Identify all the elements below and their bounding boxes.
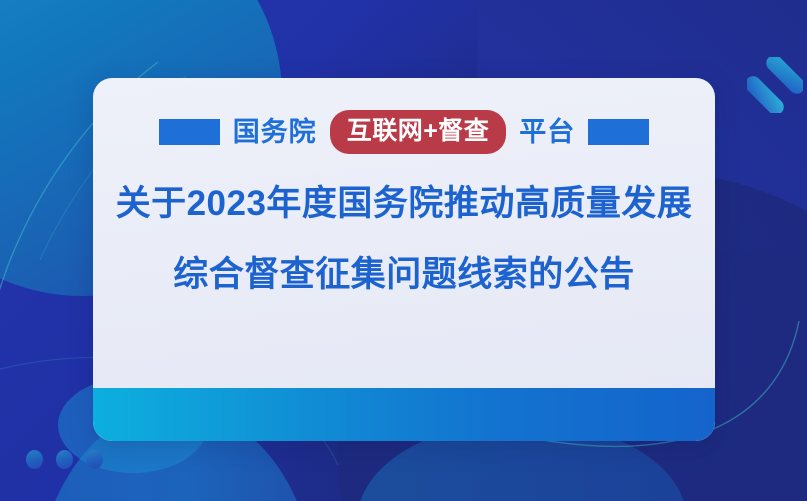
decor-dot-2 [56,450,73,469]
announcement-card: 国务院 互联网+督查 平台 关于2023年度国务院推动高质量发展 综合督查征集问… [93,78,715,441]
page-title-line-1: 关于2023年度国务院推动高质量发展 [115,186,693,221]
page-title-line-2: 综合督查征集问题线索的公告 [115,257,693,292]
decor-dots [26,450,103,469]
page-title: 关于2023年度国务院推动高质量发展 综合督查征集问题线索的公告 [115,186,693,292]
poster-canvas: 国务院 互联网+督查 平台 关于2023年度国务院推动高质量发展 综合督查征集问… [0,0,807,501]
decor-dot-3 [86,450,103,469]
brand-lockup: 国务院 互联网+督查 平台 [93,114,715,150]
brand-word-right: 平台 [519,119,575,146]
brand-word-left: 国务院 [233,119,317,146]
card-bottom-band [93,388,715,441]
decor-dot-1 [26,450,43,469]
brand-block-right [588,119,649,145]
diamond-logo [747,57,803,113]
brand-block-left [159,119,220,145]
brand-badge: 互联网+督查 [330,110,507,154]
